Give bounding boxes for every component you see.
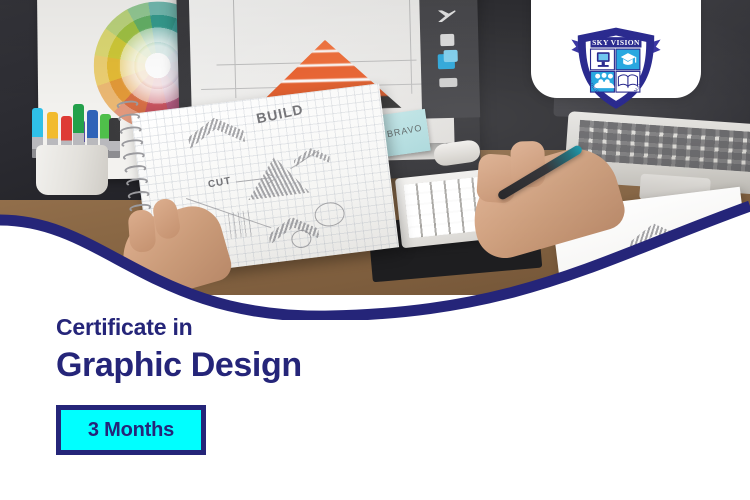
eyebrow-text: Certificate in xyxy=(56,314,476,340)
chevron-sketch xyxy=(293,146,331,172)
chevron-sketch xyxy=(186,114,246,157)
chevron-sketch xyxy=(628,220,684,260)
circle-sketch xyxy=(313,201,346,228)
shape-icon-back xyxy=(444,50,458,62)
stamp-icon xyxy=(440,34,454,46)
sketch-label-cut: CUT xyxy=(207,176,232,191)
marker-cup xyxy=(36,145,108,195)
duration-label: 3 Months xyxy=(88,419,174,442)
headline-block: Certificate in Graphic Design xyxy=(56,314,476,385)
software-toolbar xyxy=(418,0,480,119)
open-book-icon xyxy=(618,75,637,87)
swatch-icon xyxy=(439,78,457,87)
sticky-note-text: BRAVO xyxy=(386,123,423,140)
sky-vision-shield-logo: SKY VISION xyxy=(568,26,664,112)
sketch-label-build: BUILD xyxy=(255,101,305,127)
logo-panel: SKY VISION xyxy=(531,0,701,98)
course-banner: 35%A 30%A xyxy=(0,0,750,500)
logo-institution-name: SKY VISION xyxy=(592,38,640,47)
scissors-icon xyxy=(438,10,456,22)
hand-doodle xyxy=(228,210,253,238)
page-title: Graphic Design xyxy=(56,347,476,384)
duration-badge: 3 Months xyxy=(56,405,206,455)
